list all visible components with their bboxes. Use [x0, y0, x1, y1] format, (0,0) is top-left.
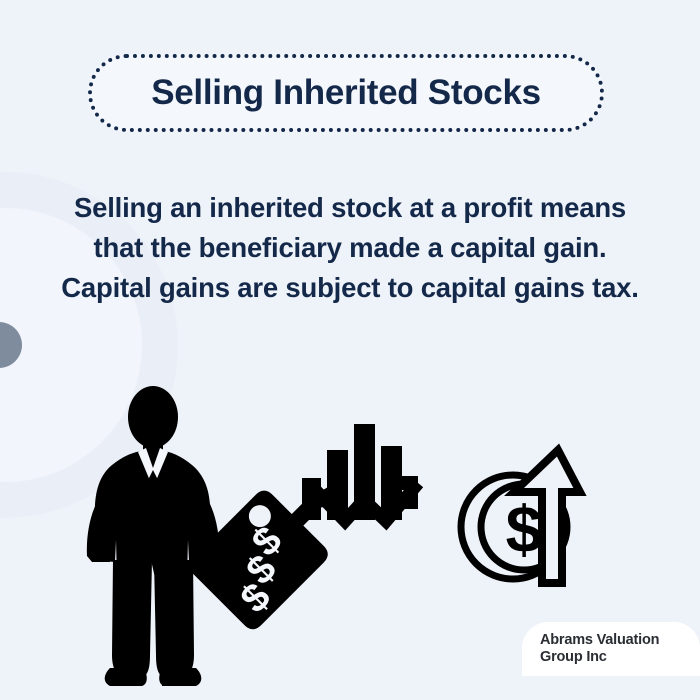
- bar-chart-growth-icon: [288, 424, 418, 527]
- logo-line-2: Group Inc: [540, 649, 700, 666]
- coin-inner-ring: [481, 484, 567, 570]
- bar-chart-trend-arrowhead: [385, 476, 418, 509]
- price-tag-body: [185, 486, 332, 633]
- bar-chart-bar-2: [327, 450, 348, 520]
- logo-line-1: Abrams Valuation: [540, 632, 700, 649]
- businessman-left-leg: [112, 560, 152, 678]
- coin-dollar-symbol: $: [506, 492, 543, 566]
- businessman-suit: [93, 450, 212, 686]
- bar-chart-bar-3: [354, 424, 375, 520]
- bar-chart-trend-line: [288, 488, 414, 527]
- price-tag-icon: $ $ $: [185, 486, 332, 633]
- dollar-coin-up-arrow-icon: $: [461, 450, 580, 583]
- businessman-neck: [143, 441, 163, 457]
- businessman-collar: [138, 448, 168, 488]
- price-tag-dollar-2: $: [238, 546, 285, 593]
- businessman-tie: [147, 470, 159, 522]
- price-tag-dollar-3: $: [244, 518, 291, 565]
- body-paragraph: Selling an inherited stock at a profit m…: [60, 188, 640, 308]
- coin-outer-ring: [461, 475, 565, 579]
- bar-chart-bar-4: [381, 446, 402, 520]
- businessman-right-leg: [154, 560, 194, 678]
- businessman-silhouette: [87, 386, 219, 686]
- concentric-circle-dot: [0, 322, 22, 368]
- bar-chart-bar-1: [302, 478, 321, 520]
- businessman-left-arm: [87, 500, 110, 562]
- businessman-right-arm: [196, 500, 219, 562]
- logo-badge: Abrams Valuation Group Inc: [522, 622, 700, 676]
- up-arrow-outline: [514, 450, 580, 583]
- price-tag-string-knot: [312, 486, 330, 508]
- businessman-head: [128, 386, 178, 448]
- infographic-canvas: Selling Inherited Stocks Selling an inhe…: [0, 0, 700, 700]
- price-tag-dollar-1: $: [232, 575, 279, 622]
- price-tag-hole: [244, 501, 275, 532]
- price-tag-string: [284, 506, 318, 540]
- businessman-left-shoe: [105, 668, 147, 686]
- title-pill: Selling Inherited Stocks: [88, 54, 604, 132]
- businessman-right-shoe: [159, 668, 201, 686]
- page-title: Selling Inherited Stocks: [151, 73, 541, 113]
